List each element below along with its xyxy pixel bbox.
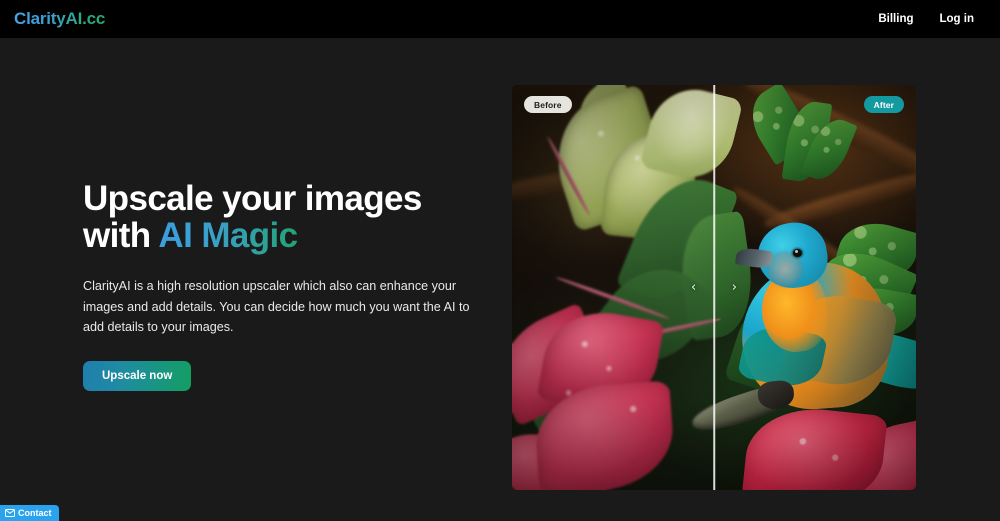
nav-link-billing[interactable]: Billing bbox=[878, 13, 913, 25]
status-badge-before: Before bbox=[524, 96, 572, 113]
site-header: ClarityAI.cc Billing Log in bbox=[0, 0, 1000, 38]
hero-section: Upscale your images with AI Magic Clarit… bbox=[0, 38, 1000, 521]
page-title: Upscale your images with AI Magic bbox=[83, 180, 500, 254]
site-logo[interactable]: ClarityAI.cc bbox=[14, 9, 105, 29]
comparison-slider-handle[interactable]: ‹ › bbox=[691, 275, 737, 301]
headline-accent: AI Magic bbox=[158, 216, 297, 255]
contact-button[interactable]: Contact bbox=[0, 505, 59, 521]
comparison-viewport[interactable]: Before After ‹ › bbox=[512, 85, 916, 490]
chevron-right-icon[interactable]: › bbox=[732, 281, 737, 294]
main-nav: Billing Log in bbox=[878, 13, 984, 25]
nav-link-login[interactable]: Log in bbox=[940, 13, 975, 25]
before-after-comparison[interactable]: Before After ‹ › bbox=[512, 85, 916, 490]
upscale-now-button[interactable]: Upscale now bbox=[83, 361, 191, 391]
hero-copy: Upscale your images with AI Magic Clarit… bbox=[0, 38, 500, 391]
status-badge-after: After bbox=[864, 96, 904, 113]
headline-line-1: Upscale your images bbox=[83, 179, 422, 218]
contact-label: Contact bbox=[18, 508, 52, 518]
chevron-left-icon[interactable]: ‹ bbox=[691, 281, 696, 294]
headline-line-2-prefix: with bbox=[83, 216, 158, 255]
hero-description: ClarityAI is a high resolution upscaler … bbox=[83, 276, 476, 337]
envelope-icon bbox=[5, 509, 15, 517]
